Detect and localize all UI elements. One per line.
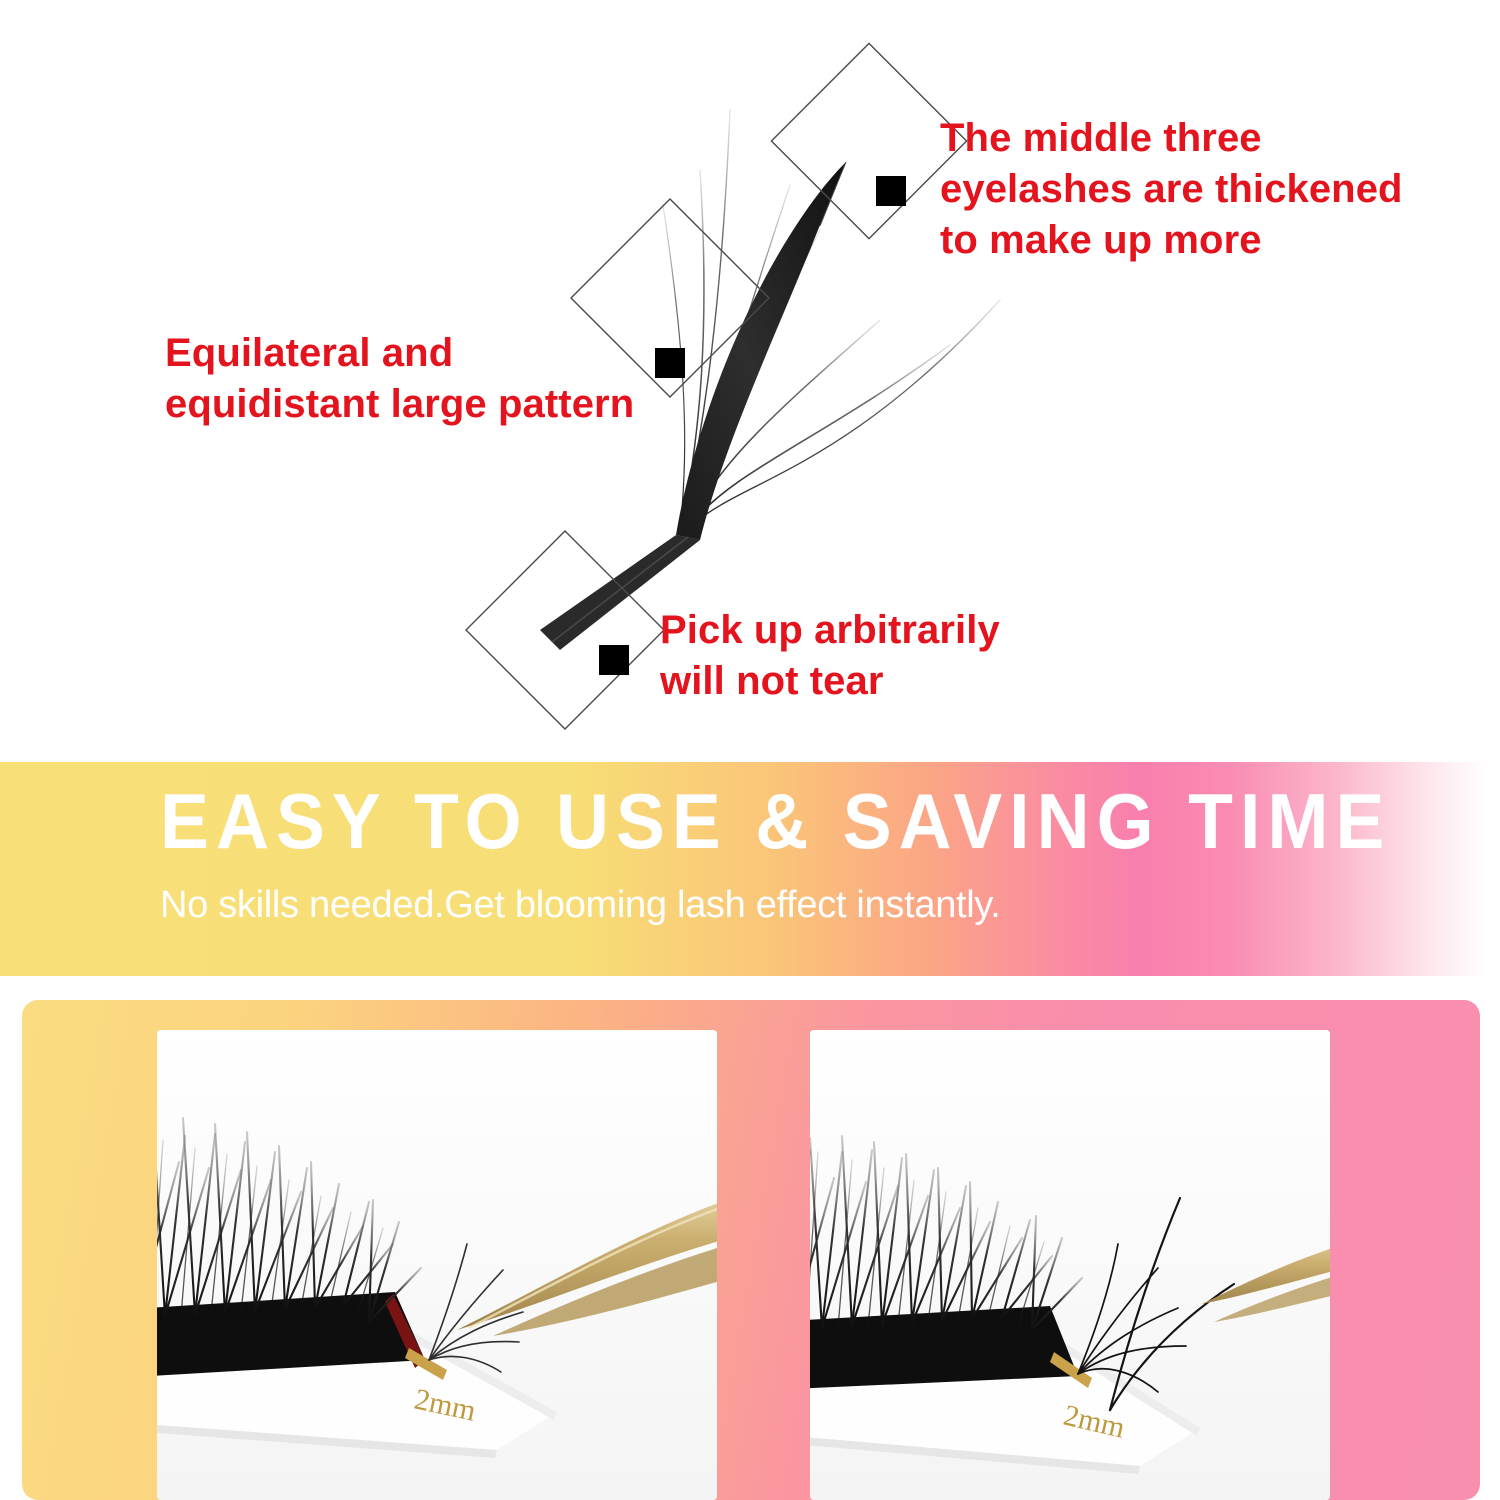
banner-headline: EASY TO USE & SAVING TIME [160, 776, 1391, 867]
photo-gallery-panel: 2mm [22, 1000, 1480, 1500]
photo-lash-fan-lifted: 2mm [810, 1030, 1330, 1500]
callout-middle-three-eyelashes: The middle three eyelashes are thickened… [940, 113, 1403, 267]
diamond-accent-square [876, 176, 906, 206]
diamond-marker-upper-right [771, 43, 966, 238]
diamond-accent-square [599, 645, 629, 675]
diamond-accent-square [655, 348, 685, 378]
callout-equilateral-pattern: Equilateral and equidistant large patter… [165, 328, 634, 430]
callout-pick-up-arbitrarily: Pick up arbitrarily will not tear [660, 605, 1000, 707]
banner-subheadline: No skills needed.Get blooming lash effec… [160, 884, 1001, 927]
promo-banner: EASY TO USE & SAVING TIME No skills need… [0, 762, 1500, 976]
hero-illustration-section: The middle three eyelashes are thickened… [0, 0, 1500, 762]
photo-lash-tray-tweezers: 2mm [157, 1030, 717, 1500]
